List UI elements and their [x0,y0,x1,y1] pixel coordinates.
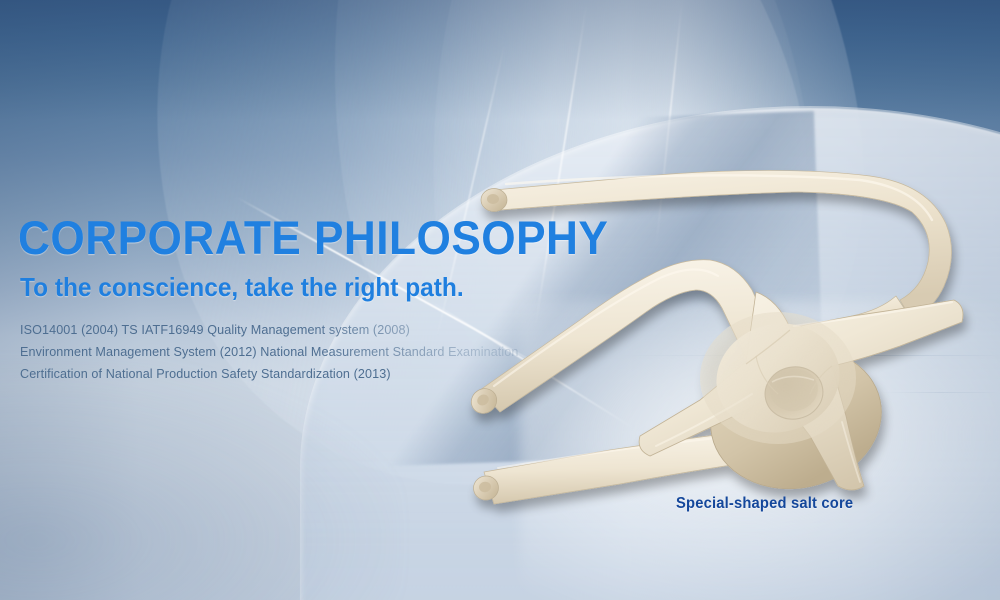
certification-line: ISO14001 (2004) TS IATF16949 Quality Man… [20,319,638,341]
certification-line: Certification of National Production Saf… [20,363,638,385]
subtitle: To the conscience, take the right path. [20,272,601,302]
page-title: CORPORATE PHILOSOPHY [18,214,601,262]
certification-list: ISO14001 (2004) TS IATF16949 Quality Man… [20,319,638,385]
headline-text-block: CORPORATE PHILOSOPHY To the conscience, … [18,214,638,385]
certification-line: Environment Management System (2012) Nat… [20,341,638,363]
corporate-philosophy-banner: CORPORATE PHILOSOPHY To the conscience, … [0,0,1000,600]
product-caption: Special-shaped salt core [676,495,853,513]
background-vignette-top [0,0,1000,120]
background-vignette-bottom-left [0,360,400,600]
